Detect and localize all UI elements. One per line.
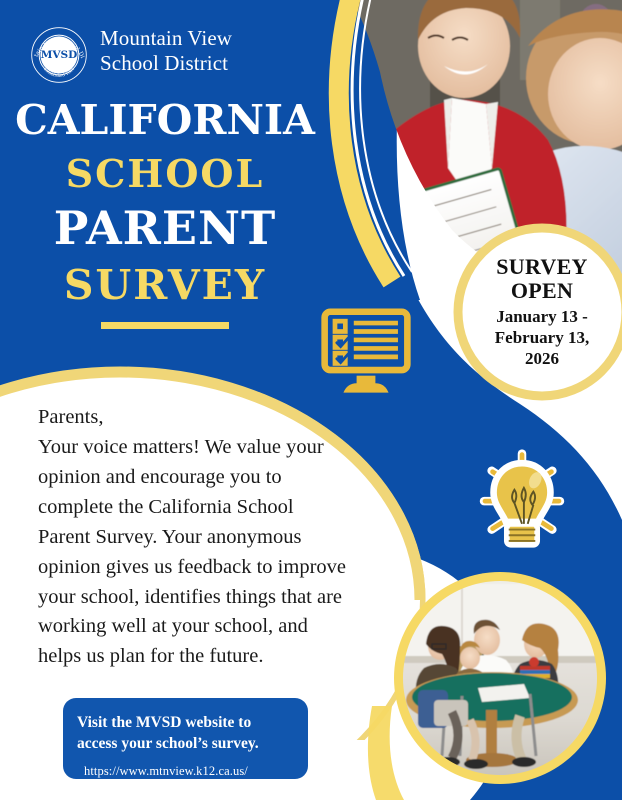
website-callout-headline: Visit the MVSD website to access your sc… xyxy=(77,713,308,755)
flyer-canvas: Mountain View School District MVSD Estab… xyxy=(0,0,622,800)
title-underline-rule xyxy=(101,322,229,329)
title-line-california: CALIFORNIA xyxy=(0,100,330,141)
lightbulb-icon xyxy=(474,448,570,558)
title-line-parent: PARENT xyxy=(0,205,330,251)
body-paragraph: Parents, Your voice matters! We value yo… xyxy=(38,403,350,672)
survey-open-dates: January 13 - February 13, 2026 xyxy=(495,307,589,369)
seal-center-text: MVSD xyxy=(41,49,78,61)
district-header: Mountain View School District MVSD Estab… xyxy=(28,22,328,96)
website-callout-box[interactable]: Visit the MVSD website to access your sc… xyxy=(63,698,308,779)
website-url-link[interactable]: https://www.mtnview.k12.ca.us/ xyxy=(77,764,308,779)
monitor-checklist-icon xyxy=(318,308,414,402)
survey-open-heading: SURVEY OPEN xyxy=(496,255,588,303)
district-seal-logo: Mountain View School District MVSD Estab… xyxy=(28,24,90,86)
flyer-title: CALIFORNIA SCHOOL PARENT SURVEY xyxy=(0,100,330,329)
title-line-school: SCHOOL xyxy=(0,155,330,193)
survey-open-badge: SURVEY OPEN January 13 - February 13, 20… xyxy=(466,236,618,388)
district-name: Mountain View School District xyxy=(100,22,232,76)
title-line-survey: SURVEY xyxy=(0,265,330,306)
